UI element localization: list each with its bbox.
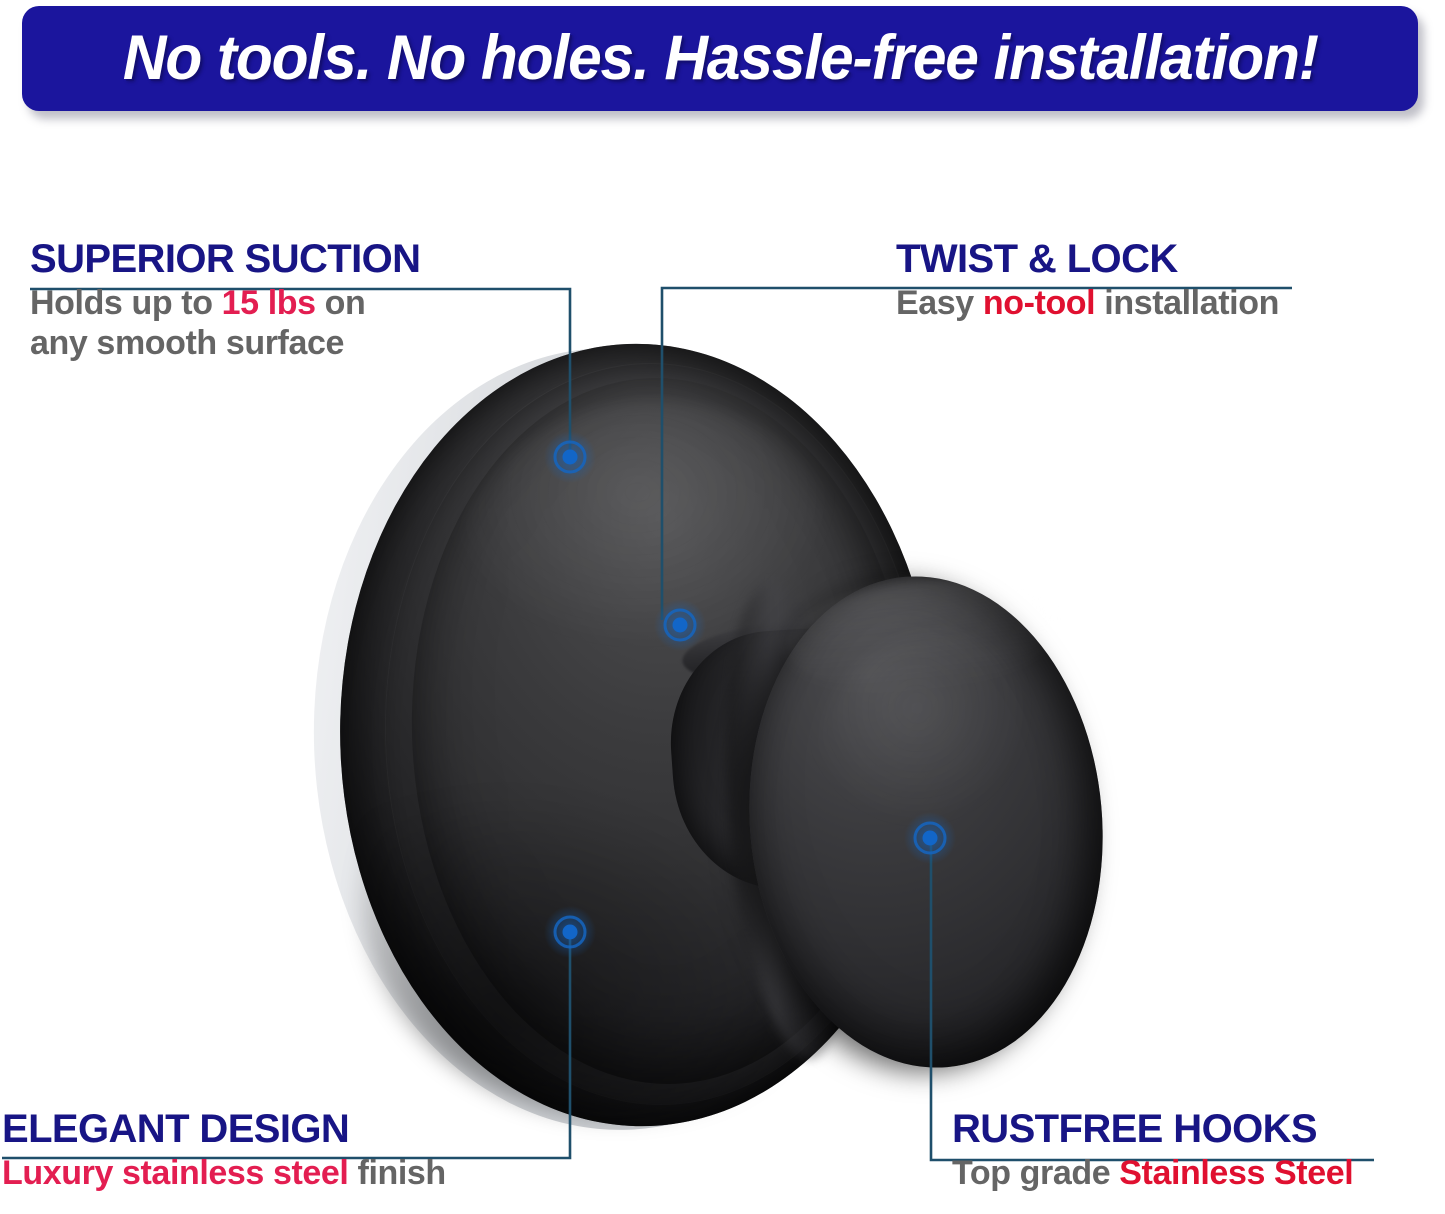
callout-body-superior-suction: Holds up to 15 lbs onany smooth surface xyxy=(30,284,420,364)
callout-heading-elegant-design: ELEGANT DESIGN xyxy=(2,1108,446,1150)
callout-body-highlight: Stainless Steel xyxy=(1119,1154,1353,1192)
callout-heading-twist-and-lock: TWIST & LOCK xyxy=(896,238,1279,280)
callout-superior-suction: SUPERIOR SUCTION Holds up to 15 lbs onan… xyxy=(30,238,420,364)
callout-body-text-suffix: on xyxy=(316,284,366,322)
callout-body-text-suffix: finish xyxy=(348,1154,445,1192)
knob-face-highlight xyxy=(812,630,1062,930)
callout-body-text: Holds up to xyxy=(30,284,222,322)
infographic-canvas: No tools. No holes. Hassle-free installa… xyxy=(0,0,1445,1214)
headline-banner: No tools. No holes. Hassle-free installa… xyxy=(22,6,1418,111)
headline-banner-text: No tools. No holes. Hassle-free installa… xyxy=(123,27,1318,90)
callout-body-rustfree-hooks: Top grade Stainless Steel xyxy=(952,1154,1353,1194)
callout-rustfree-hooks: RUSTFREE HOOKS Top grade Stainless Steel xyxy=(952,1108,1353,1194)
callout-elegant-design: ELEGANT DESIGN Luxury stainless steel fi… xyxy=(2,1108,446,1194)
callout-body-text: Top grade xyxy=(952,1154,1119,1192)
callout-body-twist-and-lock: Easy no-tool installation xyxy=(896,284,1279,324)
callout-heading-superior-suction: SUPERIOR SUCTION xyxy=(30,238,420,280)
callout-body-line2: any smooth surface xyxy=(30,324,344,362)
callout-body-highlight: no-tool xyxy=(983,284,1095,322)
callout-body-text: Easy xyxy=(896,284,983,322)
callout-body-text-suffix: installation xyxy=(1095,284,1279,322)
callout-body-highlight: Luxury stainless steel xyxy=(2,1154,348,1192)
callout-heading-rustfree-hooks: RUSTFREE HOOKS xyxy=(952,1108,1353,1150)
product-image-suction-hook xyxy=(300,330,1100,1130)
callout-twist-and-lock: TWIST & LOCK Easy no-tool installation xyxy=(896,238,1279,324)
callout-body-highlight: 15 lbs xyxy=(222,284,316,322)
callout-body-elegant-design: Luxury stainless steel finish xyxy=(2,1154,446,1194)
